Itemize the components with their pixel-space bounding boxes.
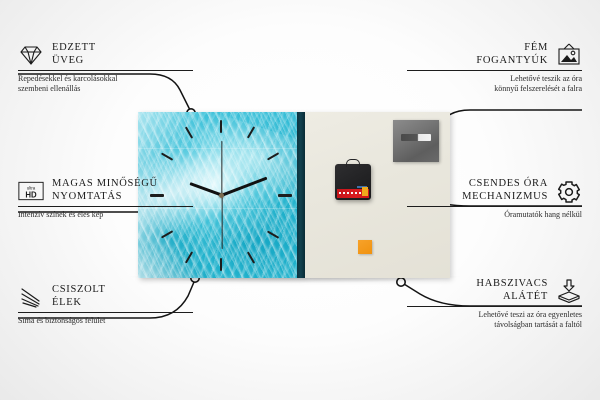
callout-title-line1: FÉM: [476, 42, 548, 55]
battery-label-text: [339, 192, 361, 194]
callout-header: HABSZIVACS ALÁTÉT: [407, 278, 582, 303]
callout-header: CSENDES ÓRA MECHANIZMUS: [407, 178, 582, 203]
callout-polished-edges[interactable]: CSISZOLT ÉLEK Sima és biztonságos felüle…: [18, 284, 193, 326]
callout-subtitle-line2: távolságban tartását a faltól: [407, 320, 582, 330]
second-hand: [221, 195, 222, 249]
callout-title-line1: HABSZIVACS: [476, 278, 548, 291]
callout-foam-pad[interactable]: HABSZIVACS ALÁTÉT Lehetővé teszi az óra …: [407, 278, 582, 330]
callout-divider: [407, 306, 582, 307]
callout-tempered-glass[interactable]: EDZETT ÜVEG Repedésekkel és karcolásokka…: [18, 42, 193, 94]
mechanism-hanging-loop: [346, 159, 360, 167]
callout-divider: [18, 206, 193, 207]
gear-icon: [556, 179, 582, 203]
clock-tick: [185, 251, 194, 263]
clock-tick: [247, 126, 256, 138]
callout-metal-handles[interactable]: FÉM FOGANTYÚK Lehetővé teszik az óra kön…: [407, 42, 582, 94]
callout-header: FÉM FOGANTYÚK: [407, 42, 582, 67]
foam-spacer-pad: [358, 240, 372, 254]
clock-tick: [220, 120, 222, 133]
callout-title-line1: EDZETT: [52, 42, 96, 55]
ultra-hd-icon: ultra HD: [18, 179, 44, 203]
callout-divider: [407, 206, 582, 207]
callout-subtitle-line1: Lehetővé teszik az óra: [407, 74, 582, 84]
metal-hanger-bracket: [393, 120, 439, 162]
callout-divider: [18, 312, 193, 313]
callout-subtitle-line1: Lehetővé teszi az óra egyenletes: [407, 310, 582, 320]
quiet-clock-mechanism: [335, 164, 371, 200]
clock-tick: [161, 230, 173, 239]
connector-metal-handles: [432, 110, 582, 140]
clock-tick: [267, 230, 279, 239]
clock-panel-edge: [297, 112, 305, 278]
minute-hand: [221, 177, 267, 197]
callout-subtitle-line1: Sima és biztonságos felület: [18, 316, 193, 326]
callout-silent-mechanism[interactable]: CSENDES ÓRA MECHANIZMUS Óramutatók hang …: [407, 178, 582, 220]
callout-title-line2: MECHANIZMUS: [462, 191, 548, 204]
clock-center-pivot: [219, 193, 224, 198]
callout-title-line2: ALÁTÉT: [476, 291, 548, 304]
callout-subtitle-line2: könnyű felszerelését a falra: [407, 84, 582, 94]
callout-subtitle-line2: szembeni ellenállás: [18, 84, 193, 94]
clock-tick: [278, 194, 292, 197]
callout-title-line2: NYOMTATÁS: [52, 191, 158, 204]
clock-tick: [185, 126, 194, 138]
callout-high-quality-print[interactable]: ultra HD MAGAS MINŐSÉGŰ NYOMTATÁS Intenz…: [18, 178, 193, 220]
callout-divider: [18, 70, 193, 71]
svg-text:HD: HD: [25, 190, 37, 199]
foam-pad-icon: [556, 279, 582, 303]
infographic-stage: EDZETT ÜVEG Repedésekkel és karcolásokka…: [0, 0, 600, 400]
clock-tick: [220, 258, 222, 271]
callout-title-line1: CSISZOLT: [52, 284, 106, 297]
svg-text:ultra: ultra: [27, 185, 36, 190]
callout-divider: [407, 70, 582, 71]
callout-title-line1: MAGAS MINŐSÉGŰ: [52, 178, 158, 191]
battery-label: [337, 189, 369, 198]
clock-tick: [267, 152, 279, 161]
clock-tick: [247, 251, 256, 263]
polished-edge-icon: [18, 285, 44, 309]
callout-title-line2: ÜVEG: [52, 55, 96, 68]
hanger-slot: [401, 134, 431, 141]
callout-header: EDZETT ÜVEG: [18, 42, 193, 67]
callout-subtitle-line1: Óramutatók hang nélkül: [407, 210, 582, 220]
callout-title-line2: ÉLEK: [52, 297, 106, 310]
hour-hand: [189, 182, 222, 197]
callout-title-line2: FOGANTYÚK: [476, 55, 548, 68]
hanging-frame-icon: [556, 43, 582, 67]
second-hand-counterweight: [221, 141, 222, 195]
callout-header: ultra HD MAGAS MINŐSÉGŰ NYOMTATÁS: [18, 178, 193, 203]
callout-subtitle-line1: Repedésekkel és karcolásokkal: [18, 74, 193, 84]
clock-tick: [161, 152, 173, 161]
callout-subtitle-line1: Intenzív színek és éles kép: [18, 210, 193, 220]
callout-title-line1: CSENDES ÓRA: [462, 178, 548, 191]
diamond-icon: [18, 43, 44, 67]
callout-header: CSISZOLT ÉLEK: [18, 284, 193, 309]
